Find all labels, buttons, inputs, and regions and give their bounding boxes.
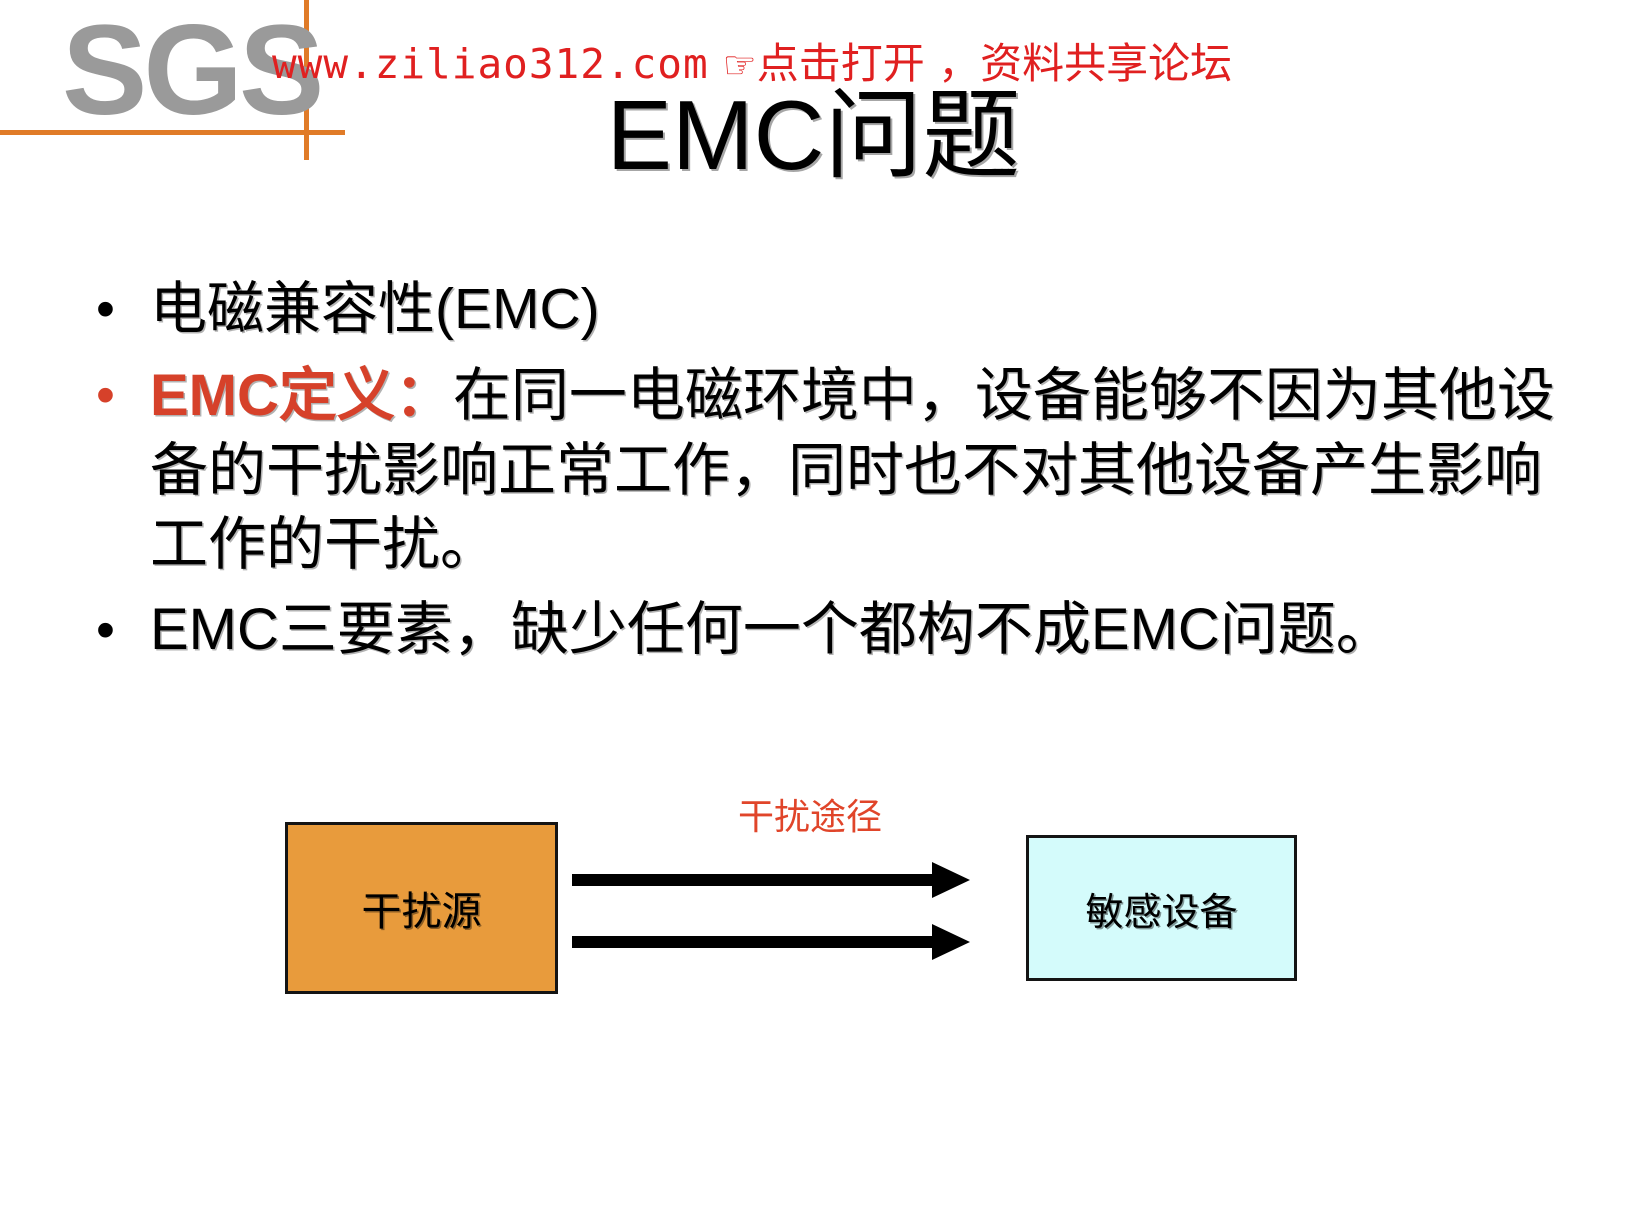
list-item: • EMC三要素，缺少任何一个都构不成EMC问题。 bbox=[88, 593, 1558, 667]
list-item: • EMC定义：在同一电磁环境中，设备能够不因为其他设备的干扰影响正常工作，同时… bbox=[88, 358, 1558, 581]
interference-path-label: 干扰途径 bbox=[600, 788, 1020, 840]
bullet-line: 在同一电磁环境中，设备能够不因为 bbox=[453, 361, 1381, 429]
interference-source-box: 干扰源 bbox=[285, 822, 558, 994]
sensitive-equipment-box: 敏感设备 bbox=[1026, 835, 1297, 981]
emc-three-elements-diagram: 干扰源 干扰途径 敏感设备 bbox=[0, 780, 1627, 1030]
bullet-text: EMC定义：在同一电磁环境中，设备能够不因为其他设备的干扰影响正常工作，同时也不… bbox=[150, 358, 1558, 581]
bullet-marker: • bbox=[88, 358, 150, 432]
emc-definition-emphasis: EMC定义： bbox=[150, 363, 453, 428]
bullet-line: 电磁兼容性(EMC) bbox=[150, 277, 600, 341]
page-title: EMC问题 bbox=[0, 80, 1627, 190]
slide-canvas: SGS www.ziliao312.com ☞点击打开 ，资料共享论坛 EMC问… bbox=[0, 0, 1627, 1208]
list-item: • 电磁兼容性(EMC) bbox=[88, 272, 1558, 346]
bullet-marker: • bbox=[88, 272, 150, 346]
bullet-line: EMC三要素，缺少任何一个都构不成EMC问题。 bbox=[150, 597, 1394, 662]
arrow-upper-icon bbox=[572, 862, 970, 898]
interference-arrows bbox=[560, 850, 980, 980]
interference-source-label: 干扰源 bbox=[362, 879, 482, 937]
arrow-group-icon bbox=[560, 850, 980, 980]
bullet-text: EMC三要素，缺少任何一个都构不成EMC问题。 bbox=[150, 593, 1558, 667]
sensitive-equipment-label: 敏感设备 bbox=[1085, 881, 1237, 936]
arrow-lower-icon bbox=[572, 924, 970, 960]
bullet-text: 电磁兼容性(EMC) bbox=[150, 272, 1558, 346]
bullet-list: • 电磁兼容性(EMC) • EMC定义：在同一电磁环境中，设备能够不因为其他设… bbox=[88, 272, 1558, 679]
bullet-marker: • bbox=[88, 593, 150, 667]
